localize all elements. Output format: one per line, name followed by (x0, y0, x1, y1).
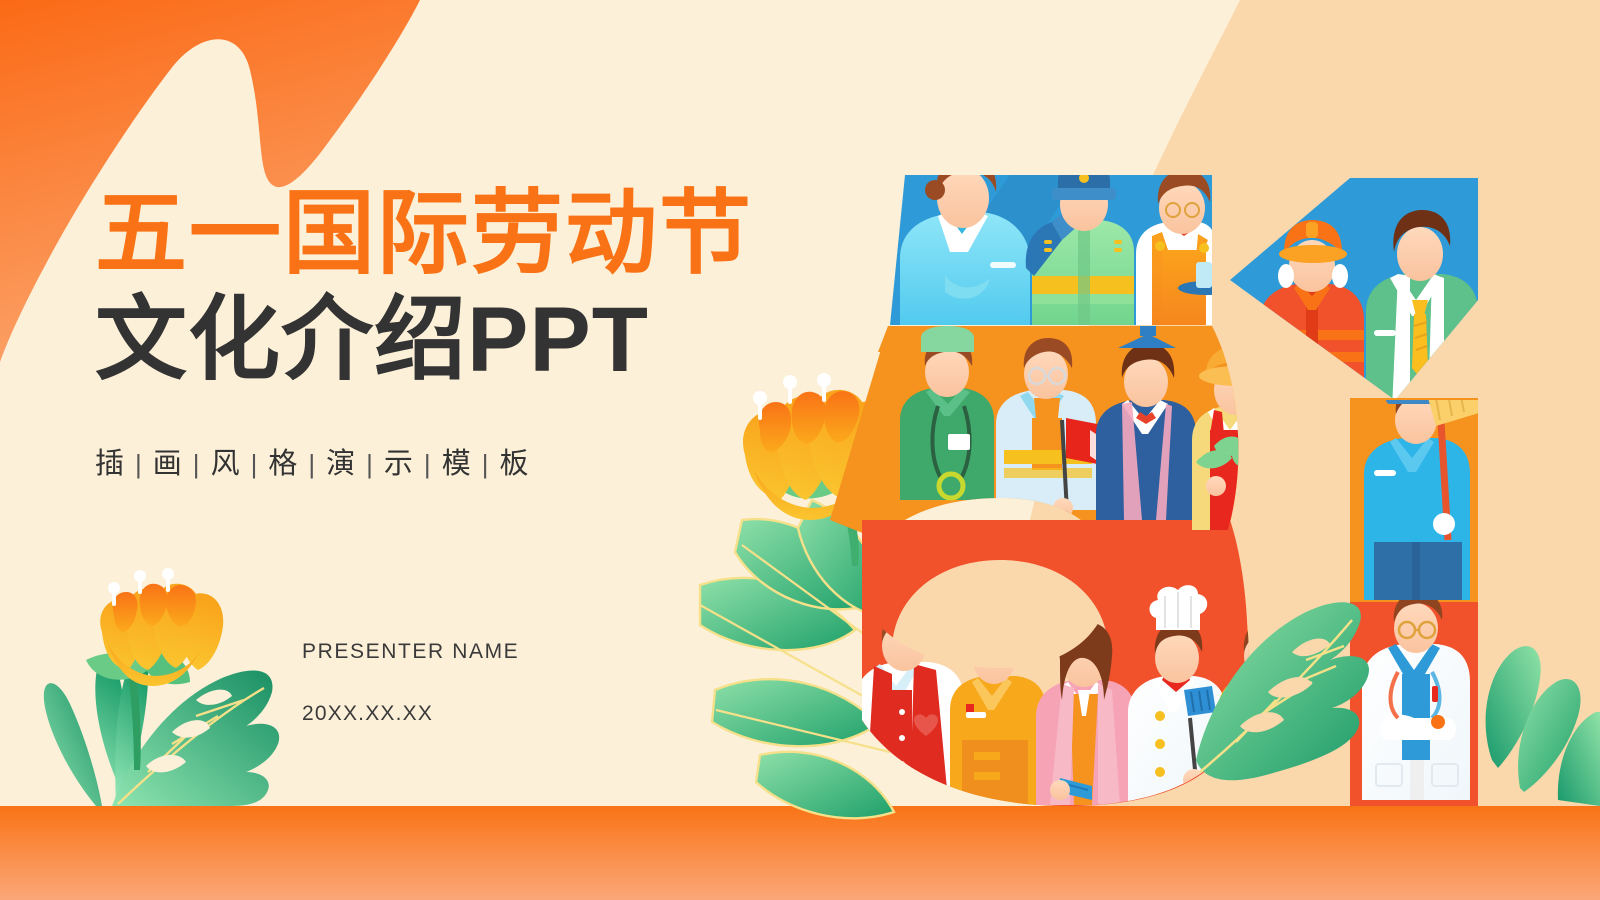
subtitle-separator: | (424, 449, 433, 479)
subtitle: 插|画|风|格|演|示|模|板 (95, 440, 815, 482)
subtitle-char: 风 (211, 448, 242, 480)
subtitle-char: 模 (442, 448, 473, 480)
subtitle-char: 格 (268, 448, 299, 480)
subtitle-separator: | (251, 449, 260, 479)
presenter-name: PRESENTER NAME (302, 640, 519, 664)
subtitle-separator: | (193, 449, 202, 479)
subtitle-char: 演 (326, 448, 357, 480)
subtitle-char: 示 (384, 448, 415, 480)
page-title-primary: 五一国际劳动节 (95, 185, 815, 284)
subtitle-separator: | (482, 449, 491, 479)
subtitle-char: 插 (95, 448, 126, 480)
presenter-date: 20XX.XX.XX (302, 702, 519, 726)
page-title-secondary: 文化介绍PPT (95, 288, 815, 394)
subtitle-char: 板 (499, 448, 530, 480)
subtitle-char: 画 (153, 448, 184, 480)
presenter-block: PRESENTER NAME 20XX.XX.XX (302, 640, 519, 726)
slide-canvas: 五一国际劳动节 文化介绍PPT 插|画|风|格|演|示|模|板 PRESENTE… (0, 0, 1600, 900)
subtitle-separator: | (308, 449, 317, 479)
subtitle-separator: | (366, 449, 375, 479)
title-block: 五一国际劳动节 文化介绍PPT 插|画|风|格|演|示|模|板 (95, 185, 815, 482)
subtitle-separator: | (135, 449, 144, 479)
